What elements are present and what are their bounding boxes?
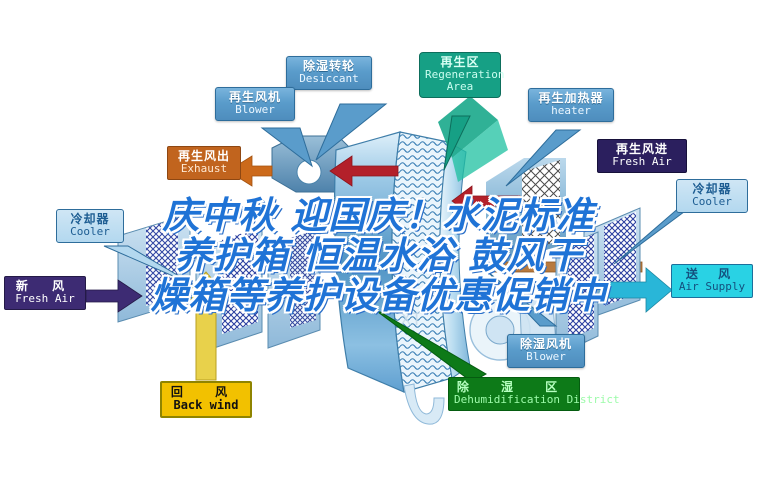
label-regeneration-area-cn: 再生区: [425, 56, 495, 69]
drain-scoop: [404, 384, 444, 424]
label-back-wind-en: Back wind: [167, 399, 245, 412]
label-regen-heater-cn: 再生加热器: [534, 92, 608, 105]
label-fresh-air-cn: 新 风: [10, 280, 80, 293]
label-dehumid-blower-cn: 除湿风机: [513, 338, 579, 351]
label-regen-heater[interactable]: 再生加热器 heater: [528, 88, 614, 122]
label-cooler-left-en: Cooler: [62, 226, 118, 238]
label-regen-blower-cn: 再生风机: [221, 91, 289, 104]
label-regen-fresh-air[interactable]: 再生风进 Fresh Air: [597, 139, 687, 173]
label-fresh-air[interactable]: 新 风 Fresh Air: [4, 276, 86, 310]
label-desiccant-cn: 除湿转轮: [292, 60, 366, 73]
label-regen-blower-en: Blower: [221, 104, 289, 116]
dehumidifier-schematic: XT: [0, 0, 757, 488]
label-cooler-right[interactable]: 冷却器 Cooler: [676, 179, 748, 213]
label-cooler-right-cn: 冷却器: [682, 183, 742, 196]
label-dehumidification-district-cn: 除 湿 区: [454, 381, 574, 394]
label-air-supply-cn: 送 风: [677, 268, 747, 281]
label-cooler-left-cn: 冷却器: [62, 213, 118, 226]
label-back-wind-cn: 回 风: [167, 386, 245, 399]
label-air-supply[interactable]: 送 风 Air Supply: [671, 264, 753, 298]
label-desiccant[interactable]: 除湿转轮 Desiccant: [286, 56, 372, 90]
label-dehumidification-district-en: Dehumidification District: [454, 394, 574, 406]
label-exhaust[interactable]: 再生风出 Exhaust: [167, 146, 241, 180]
label-dehumid-blower[interactable]: 除湿风机 Blower: [507, 334, 585, 368]
label-dehumid-blower-en: Blower: [513, 351, 579, 363]
label-fresh-air-en: Fresh Air: [10, 293, 80, 305]
label-cooler-right-en: Cooler: [682, 196, 742, 208]
label-exhaust-en: Exhaust: [173, 163, 235, 175]
label-regeneration-area[interactable]: 再生区 Regeneration Area: [419, 52, 501, 98]
promo-banner-image: XT: [0, 0, 757, 488]
label-regen-heater-en: heater: [534, 105, 608, 117]
label-regeneration-area-en: Regeneration Area: [425, 69, 495, 93]
label-exhaust-cn: 再生风出: [173, 150, 235, 163]
label-regen-blower[interactable]: 再生风机 Blower: [215, 87, 295, 121]
label-regen-fresh-air-cn: 再生风进: [603, 143, 681, 156]
label-regen-fresh-air-en: Fresh Air: [603, 156, 681, 168]
label-back-wind[interactable]: 回 风 Back wind: [160, 381, 252, 418]
label-cooler-left[interactable]: 冷却器 Cooler: [56, 209, 124, 243]
label-desiccant-en: Desiccant: [292, 73, 366, 85]
label-air-supply-en: Air Supply: [677, 281, 747, 293]
label-dehumidification-district[interactable]: 除 湿 区 Dehumidification District: [448, 377, 580, 411]
